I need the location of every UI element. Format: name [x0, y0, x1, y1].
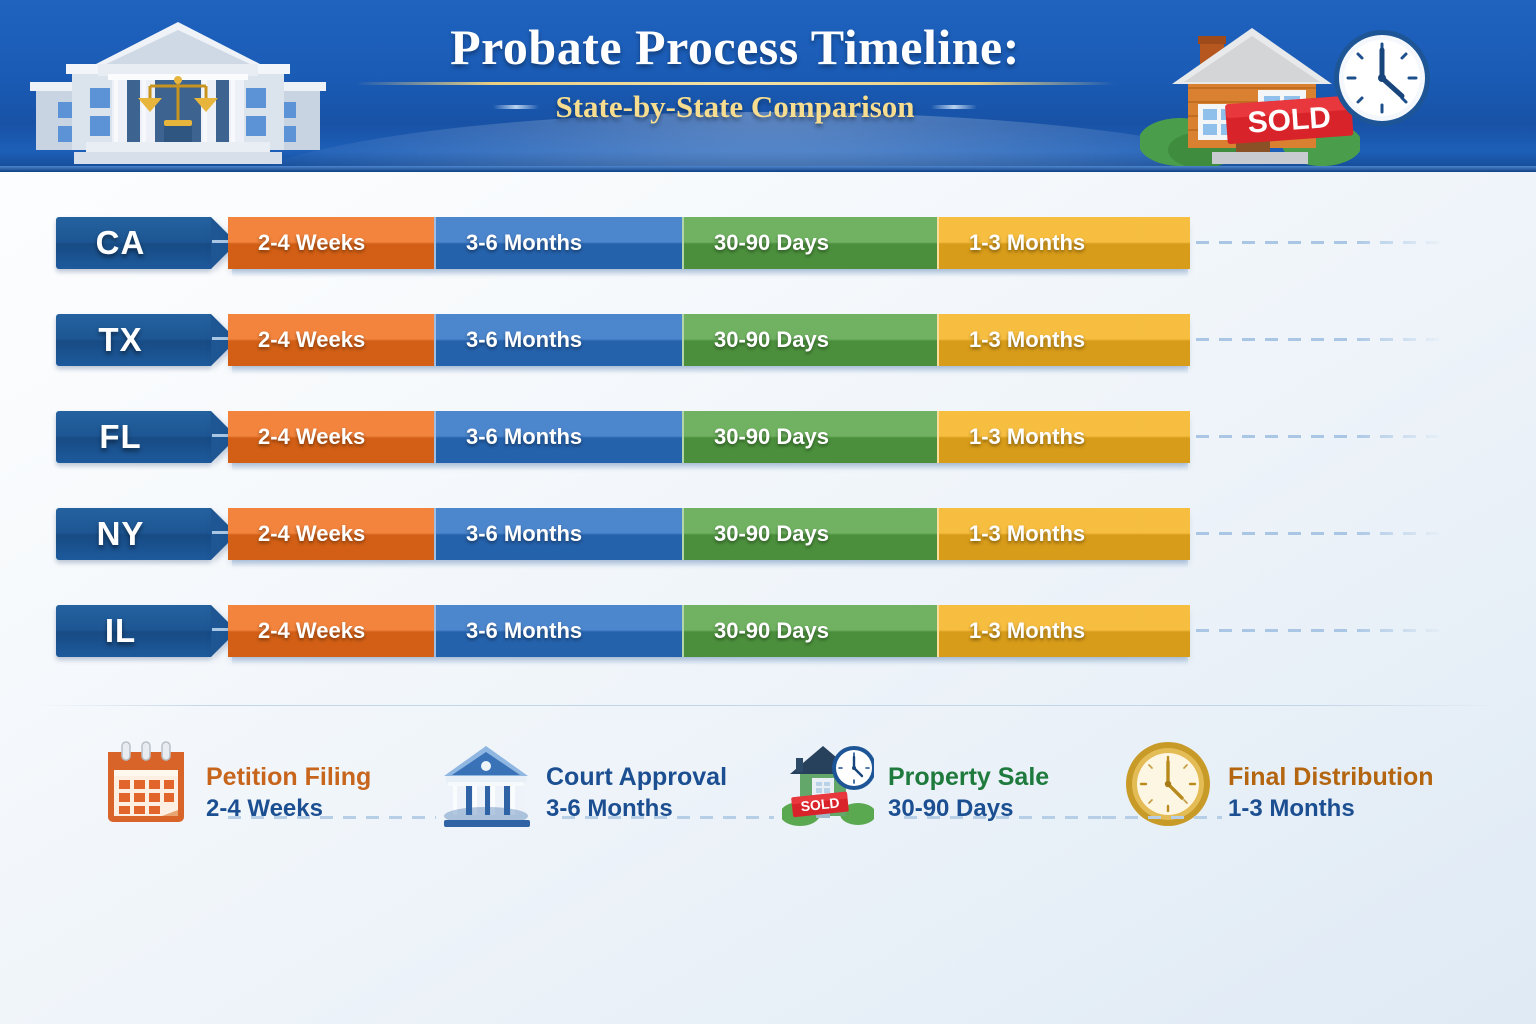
segment-label: 3-6 Months [436, 618, 582, 644]
row-shadow [232, 366, 1188, 374]
segment-final-distribution[interactable]: 1-3 Months [937, 314, 1190, 366]
state-label: NY [97, 515, 171, 553]
state-badge-il[interactable]: IL [56, 605, 211, 657]
segment-property-sale[interactable]: 30-90 Days [682, 314, 937, 366]
table-row[interactable]: NY 2-4 Weeks 3-6 Months 30-90 Days 1-3 M… [0, 505, 1536, 563]
timeline-rows: CA 2-4 Weeks 3-6 Months 30-90 Days 1-3 M… [0, 172, 1536, 705]
segment-final-distribution[interactable]: 1-3 Months [937, 217, 1190, 269]
state-label: TX [98, 321, 168, 359]
segment-label: 30-90 Days [684, 618, 829, 644]
state-badge-fl[interactable]: FL [56, 411, 211, 463]
legend-duration: 2-4 Weeks [206, 793, 371, 825]
segment-label: 2-4 Weeks [228, 327, 365, 353]
legend-dash [904, 816, 1116, 819]
segment-property-sale[interactable]: 30-90 Days [682, 508, 937, 560]
courthouse-icon [440, 738, 532, 830]
row-shadow [232, 269, 1188, 277]
segment-property-sale[interactable]: 30-90 Days [682, 411, 937, 463]
legend: Petition Filing 2-4 Weeks [0, 738, 1536, 858]
segment-final-distribution[interactable]: 1-3 Months [937, 508, 1190, 560]
segment-court-approval[interactable]: 3-6 Months [434, 217, 682, 269]
segment-label: 2-4 Weeks [228, 424, 365, 450]
segment-petition-filing[interactable]: 2-4 Weeks [228, 314, 434, 366]
legend-title: Petition Filing [206, 762, 371, 793]
segment-label: 2-4 Weeks [228, 521, 365, 547]
segment-court-approval[interactable]: 3-6 Months [434, 314, 682, 366]
legend-title: Final Distribution [1228, 762, 1434, 793]
state-badge-ca[interactable]: CA [56, 217, 211, 269]
legend-duration: 30-90 Days [888, 793, 1049, 825]
row-shadow [232, 463, 1188, 471]
row-trailing-dashes [1196, 629, 1446, 632]
legend-duration: 1-3 Months [1228, 793, 1434, 825]
segment-court-approval[interactable]: 3-6 Months [434, 605, 682, 657]
row-trailing-dashes [1196, 338, 1446, 341]
timeline-bar-fl: 2-4 Weeks 3-6 Months 30-90 Days 1-3 Mont… [228, 411, 1190, 463]
legend-item-final-distribution[interactable]: Final Distribution 1-3 Months [1122, 738, 1472, 848]
segment-label: 1-3 Months [939, 618, 1085, 644]
segment-label: 3-6 Months [436, 424, 582, 450]
timeline-bar-tx: 2-4 Weeks 3-6 Months 30-90 Days 1-3 Mont… [228, 314, 1190, 366]
segment-label: 30-90 Days [684, 521, 829, 547]
segment-final-distribution[interactable]: 1-3 Months [937, 411, 1190, 463]
courthouse-scales-icon [28, 16, 328, 166]
segment-property-sale[interactable]: 30-90 Days [682, 605, 937, 657]
timeline-bar-ca: 2-4 Weeks 3-6 Months 30-90 Days 1-3 Mont… [228, 217, 1190, 269]
segment-label: 1-3 Months [939, 424, 1085, 450]
title-divider [355, 82, 1115, 85]
segment-label: 1-3 Months [939, 327, 1085, 353]
segment-label: 2-4 Weeks [228, 230, 365, 256]
segment-label: 30-90 Days [684, 424, 829, 450]
segment-petition-filing[interactable]: 2-4 Weeks [228, 411, 434, 463]
state-label: CA [96, 224, 172, 262]
segment-petition-filing[interactable]: 2-4 Weeks [228, 605, 434, 657]
segment-label: 30-90 Days [684, 327, 829, 353]
segment-court-approval[interactable]: 3-6 Months [434, 508, 682, 560]
state-label: FL [99, 418, 167, 456]
segment-petition-filing[interactable]: 2-4 Weeks [228, 508, 434, 560]
legend-dash [228, 816, 436, 819]
timeline-bar-il: 2-4 Weeks 3-6 Months 30-90 Days 1-3 Mont… [228, 605, 1190, 657]
segment-label: 2-4 Weeks [228, 618, 365, 644]
table-row[interactable]: FL 2-4 Weeks 3-6 Months 30-90 Days 1-3 M… [0, 408, 1536, 466]
row-shadow [232, 657, 1188, 665]
table-row[interactable]: CA 2-4 Weeks 3-6 Months 30-90 Days 1-3 M… [0, 214, 1536, 272]
segment-label: 30-90 Days [684, 230, 829, 256]
row-trailing-dashes [1196, 241, 1446, 244]
segment-petition-filing[interactable]: 2-4 Weeks [228, 217, 434, 269]
clock-icon [1330, 26, 1435, 131]
segment-label: 3-6 Months [436, 521, 582, 547]
legend-title: Court Approval [546, 762, 727, 793]
legend-dash [1102, 816, 1222, 819]
legend-item-petition-filing[interactable]: Petition Filing 2-4 Weeks [100, 738, 430, 848]
page-subtitle: State-by-State Comparison [555, 89, 914, 125]
segment-label: 1-3 Months [939, 521, 1085, 547]
legend-item-court-approval[interactable]: Court Approval 3-6 Months [440, 738, 770, 848]
segment-label: 3-6 Months [436, 327, 582, 353]
table-row[interactable]: TX 2-4 Weeks 3-6 Months 30-90 Days 1-3 M… [0, 311, 1536, 369]
state-badge-tx[interactable]: TX [56, 314, 211, 366]
row-shadow [232, 560, 1188, 568]
house-sold-clock-icon: SOLD [782, 738, 874, 830]
segment-court-approval[interactable]: 3-6 Months [434, 411, 682, 463]
legend-title: Property Sale [888, 762, 1049, 793]
legend-dash [562, 816, 774, 819]
legend-duration: 3-6 Months [546, 793, 727, 825]
segment-property-sale[interactable]: 30-90 Days [682, 217, 937, 269]
segment-label: 3-6 Months [436, 230, 582, 256]
house-sold-sign-icon: SOLD [1140, 14, 1360, 169]
table-row[interactable]: IL 2-4 Weeks 3-6 Months 30-90 Days 1-3 M… [0, 602, 1536, 660]
title-block: Probate Process Timeline: State-by-State… [340, 18, 1130, 125]
segment-label: 1-3 Months [939, 230, 1085, 256]
row-trailing-dashes [1196, 532, 1446, 535]
subtitle-dash-left [493, 105, 539, 109]
timeline-bar-ny: 2-4 Weeks 3-6 Months 30-90 Days 1-3 Mont… [228, 508, 1190, 560]
header-banner: Probate Process Timeline: State-by-State… [0, 0, 1536, 172]
section-divider [36, 705, 1500, 706]
state-label: IL [105, 612, 162, 650]
state-badge-ny[interactable]: NY [56, 508, 211, 560]
svg-text:SOLD: SOLD [1247, 101, 1332, 140]
page-title: Probate Process Timeline: [340, 18, 1130, 76]
subtitle-dash-right [931, 105, 977, 109]
calendar-icon [100, 738, 192, 830]
segment-final-distribution[interactable]: 1-3 Months [937, 605, 1190, 657]
legend-item-property-sale[interactable]: SOLD Property Sale 30-90 Days [782, 738, 1112, 848]
row-trailing-dashes [1196, 435, 1446, 438]
